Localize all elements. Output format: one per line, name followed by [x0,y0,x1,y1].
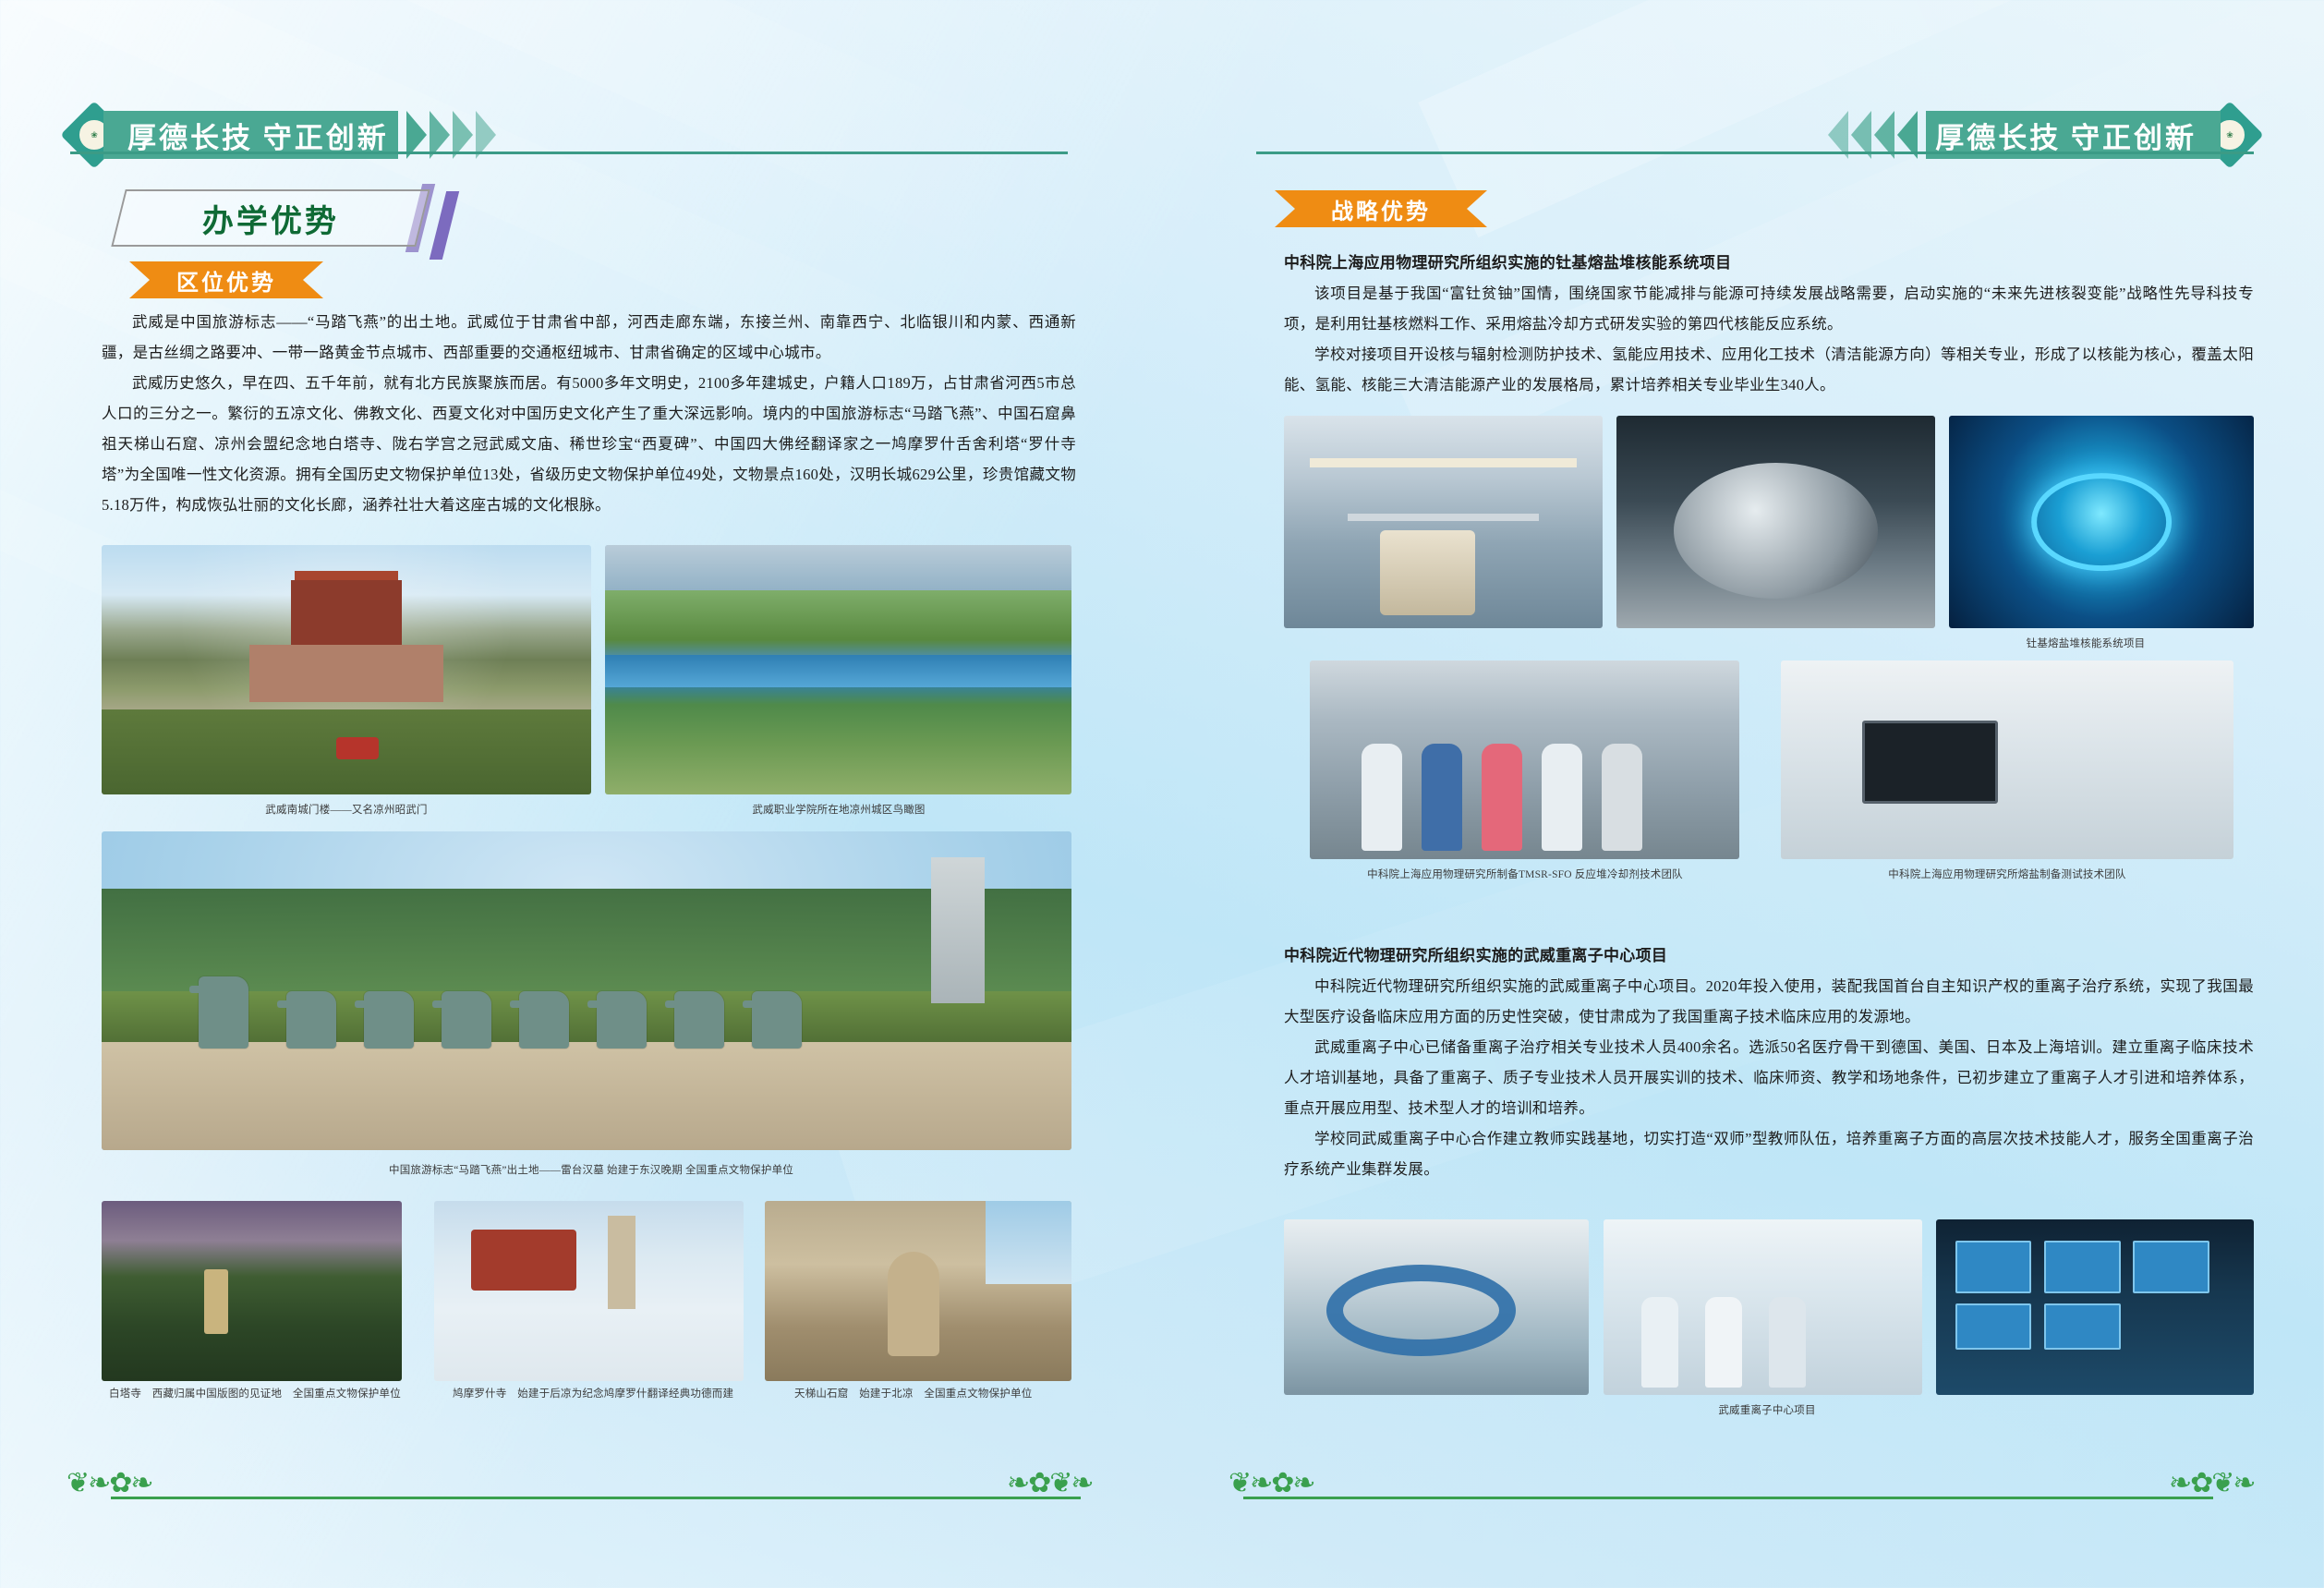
photo-liangzhou-aerial [605,545,1071,794]
photo-heavy-ion-accelerator [1284,1219,1589,1395]
photo-tianti-mountain-grotto [765,1201,1071,1381]
block-heading: 中科院上海应用物理研究所组织实施的钍基熔盐堆核能系统项目 [1284,248,2254,278]
vine-ornament-icon: ❧✿❦❧ [2169,1467,2255,1499]
photo-caption: 中国旅游标志“马踏飞燕”出土地——雷台汉墓 始建于东汉晚期 全国重点文物保护单位 [389,1162,793,1177]
ribbon-tag-location-advantage: 区位优势 [129,261,323,298]
paragraph: 武威是中国旅游标志——“马踏飞燕”的出土地。武威位于甘肃省中部，河西走廊东端，东… [102,307,1076,368]
vine-ornament-icon: ❧✿❦❧ [1007,1467,1093,1499]
photo-salt-test-team [1781,661,2233,859]
paragraph: 武威历史悠久，早在四、五千年前，就有北方民族聚族而居。有5000多年文明史，21… [102,368,1076,520]
paragraph: 学校对接项目开设核与辐射检测防护技术、氢能应用技术、应用化工技术（清洁能源方向）… [1284,339,2254,400]
photo-control-room [1936,1219,2254,1395]
paragraph: 武威重离子中心已储备重离子治疗相关专业技术人员400余名。选派50名医疗骨干到德… [1284,1032,2254,1123]
header-banner-left: ❀ 厚德长技 守正创新 [70,107,496,163]
photo-molten-salt-plant [1284,416,1603,628]
header-banner-right: ❀ 厚德长技 守正创新 [1828,107,2254,163]
banner-title: 厚德长技 守正创新 [127,115,389,156]
photo-caption: 武威南城门楼——又名凉州昭武门 [265,802,428,817]
block-molten-salt: 中科院上海应用物理研究所组织实施的钍基熔盐堆核能系统项目 该项目是基于我国“富钍… [1284,248,2254,400]
photo-bronze-horse-leitai [102,831,1071,1150]
photo-wuwei-south-gate [102,545,591,794]
footer-divider [111,1497,1081,1499]
photo-caption: 中科院上海应用物理研究所熔盐制备测试技术团队 [1888,867,2125,881]
photo-tmsr-sfo-team [1310,661,1739,859]
photo-reactor-core [1949,416,2254,628]
photo-caption: 钍基熔盐堆核能系统项目 [2027,636,2146,650]
header-divider [70,152,1068,154]
footer-divider [1243,1497,2213,1499]
left-page: ❀ 厚德长技 守正创新 办学优势 区位优势 武威是中国旅游标志——“马踏飞燕”的… [0,0,1162,1588]
vine-ornament-icon: ❦❧✿❧ [1229,1467,1314,1499]
photo-caption: 鸠摩罗什寺 始建于后凉为纪念鸠摩罗什翻译经典功德而建 [453,1386,733,1400]
paragraph: 学校同武威重离子中心合作建立教师实践基地，切实打造“双师”型教师队伍，培养重离子… [1284,1123,2254,1184]
photo-caption: 武威职业学院所在地凉州城区鸟瞰图 [752,802,925,817]
section-title-block: 办学优势 [118,189,423,247]
paragraph: 中科院近代物理研究所组织实施的武威重离子中心项目。2020年投入使用，装配我国首… [1284,971,2254,1032]
photo-baita-temple [102,1201,402,1381]
photo-training-classroom [1604,1219,1922,1395]
banner-title: 厚德长技 守正创新 [1935,115,2197,156]
photo-caption: 白塔寺 西藏归属中国版图的见证地 全国重点文物保护单位 [109,1386,401,1400]
right-page: ❀ 厚德长技 守正创新 战略优势 中科院上海应用物理研究所组织实施的钍基熔盐堆核… [1162,0,2324,1588]
paragraph: 该项目是基于我国“富钍贫铀”国情，围绕国家节能减排与能源可持续发展战略需要，启动… [1284,278,2254,339]
section-title-text: 办学优势 [202,196,339,241]
header-divider [1256,152,2254,154]
block-heading: 中科院近代物理研究所组织实施的武威重离子中心项目 [1284,940,2254,971]
photo-kumarajiva-temple [434,1201,744,1381]
vine-ornament-icon: ❦❧✿❧ [67,1467,152,1499]
photo-caption: 天梯山石窟 始建于北凉 全国重点文物保护单位 [794,1386,1032,1400]
block-heavy-ion: 中科院近代物理研究所组织实施的武威重离子中心项目 中科院近代物理研究所组织实施的… [1284,940,2254,1184]
section-title-frame: 办学优势 [111,189,430,247]
ribbon-label: 战略优势 [1331,193,1431,225]
left-text-block: 武威是中国旅游标志——“马踏飞燕”的出土地。武威位于甘肃省中部，河西走廊东端，东… [102,307,1076,520]
photo-caption: 武威重离子中心项目 [1718,1402,1815,1417]
ribbon-label: 区位优势 [176,264,276,297]
ribbon-tag-strategic-advantage: 战略优势 [1275,190,1487,227]
photo-reactor-vessel [1616,416,1935,628]
photo-caption: 中科院上海应用物理研究所制备TMSR-SFO 反应堆冷却剂技术团队 [1367,867,1683,881]
